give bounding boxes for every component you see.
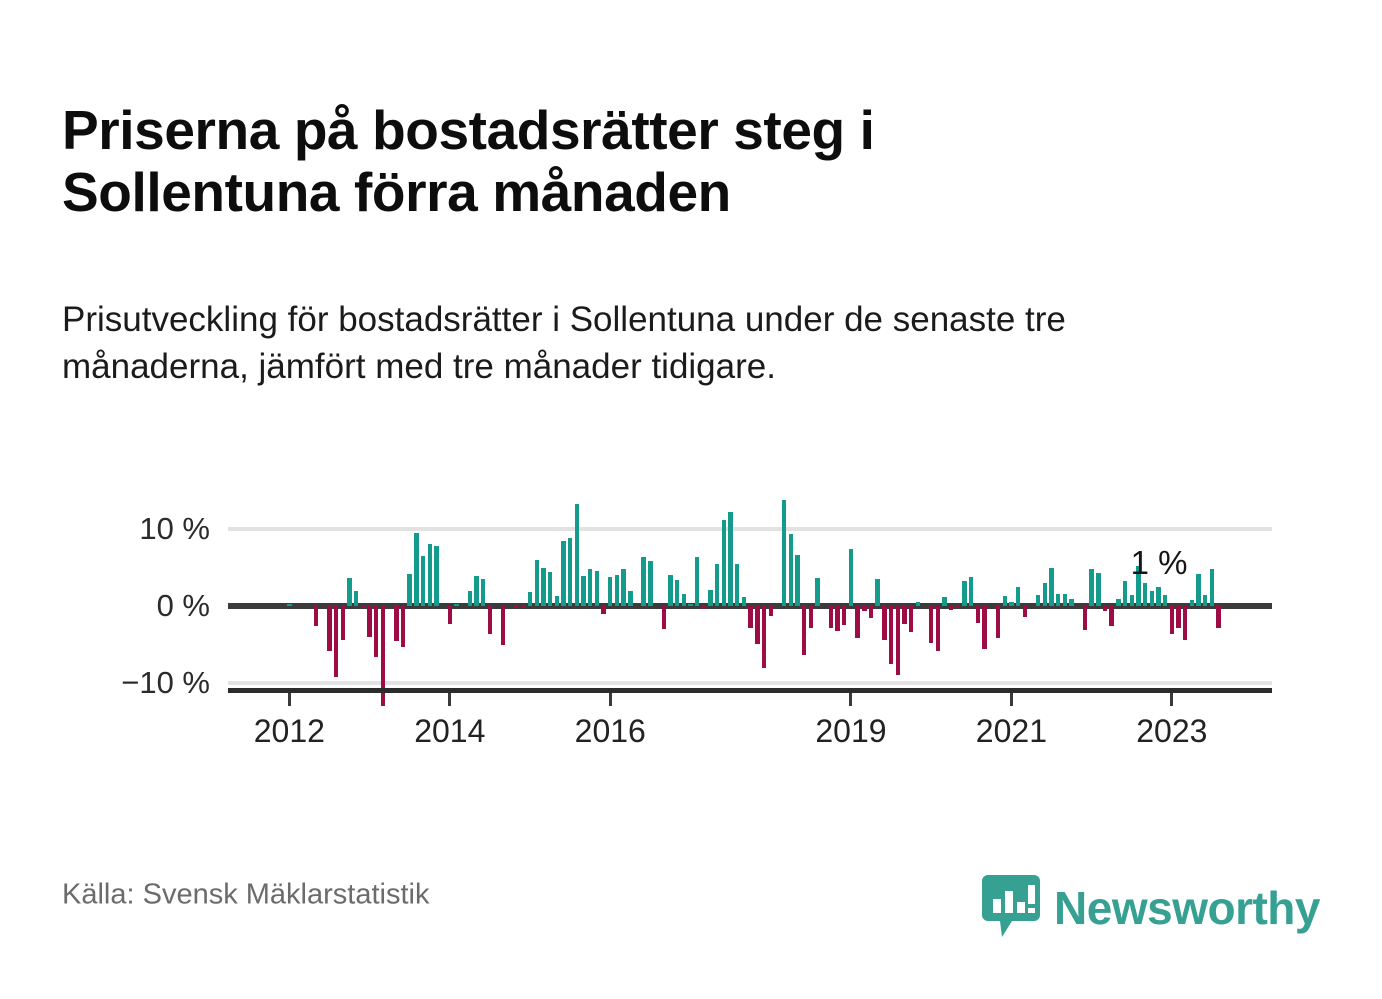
- chart-bar: [354, 591, 358, 606]
- chart-bar: [561, 541, 565, 606]
- chart-bar: [795, 555, 799, 606]
- x-axis-tick: [1010, 693, 1013, 706]
- chart-bar: [1023, 606, 1027, 617]
- chart-bar: [1043, 583, 1047, 606]
- chart-bar: [862, 606, 866, 611]
- chart-bar: [428, 544, 432, 606]
- chart-bar: [662, 606, 666, 629]
- chart-bar: [829, 606, 833, 628]
- x-axis-tick-label: 2021: [976, 713, 1047, 750]
- chart-bar: [782, 500, 786, 606]
- chart-bar: [581, 576, 585, 606]
- chart-bar: [401, 606, 405, 647]
- chart-bar: [575, 504, 579, 606]
- chart-bar: [742, 597, 746, 606]
- chart-bar: [708, 590, 712, 606]
- chart-bar: [1123, 581, 1127, 606]
- chart-bar: [695, 557, 699, 606]
- x-axis-tick-label: 2012: [254, 713, 325, 750]
- chart-bar: [702, 606, 706, 609]
- chart-bar: [889, 606, 893, 664]
- chart-bar: [748, 606, 752, 628]
- chart-bar: [648, 561, 652, 606]
- x-axis-tick-label: 2023: [1136, 713, 1207, 750]
- chart-bar: [929, 606, 933, 643]
- infographic-page: Priserna på bostadsrätter steg i Sollent…: [0, 0, 1382, 999]
- chart-bar: [1190, 600, 1194, 606]
- page-subtitle: Prisutveckling för bostadsrätter i Solle…: [62, 297, 1242, 390]
- chart-bar: [1083, 606, 1087, 630]
- chart-bar: [608, 577, 612, 606]
- chart-bar: [1143, 583, 1147, 606]
- chart-bar: [407, 574, 411, 606]
- x-axis-tick: [1170, 693, 1173, 706]
- chart-bar: [488, 606, 492, 634]
- chart-bar: [875, 579, 879, 606]
- chart-bar: [722, 520, 726, 606]
- chart-bar: [501, 606, 505, 645]
- chart-bar: [327, 606, 331, 651]
- chart-bar: [715, 564, 719, 606]
- chart-bar: [628, 591, 632, 606]
- chart-bar: [682, 594, 686, 606]
- chart-bar: [668, 575, 672, 606]
- chart-bar: [942, 597, 946, 606]
- chart-bar: [367, 606, 371, 637]
- chart-bar: [835, 606, 839, 631]
- chart-bar: [541, 568, 545, 607]
- chart-bar: [882, 606, 886, 640]
- chart-bar: [896, 606, 900, 675]
- x-axis-tick: [288, 693, 291, 706]
- bar-chart: 10 %0 %−10 % 201220142016201920212023 1 …: [0, 470, 1382, 770]
- chart-bar: [421, 556, 425, 606]
- chart-bar: [969, 577, 973, 606]
- chart-bar: [809, 606, 813, 628]
- chart-bar: [815, 578, 819, 606]
- x-axis-tick-label: 2019: [815, 713, 886, 750]
- page-title: Priserna på bostadsrätter steg i Sollent…: [62, 99, 1182, 223]
- chart-bar: [1183, 606, 1187, 640]
- x-axis-tick-label: 2014: [414, 713, 485, 750]
- chart-bar: [1089, 569, 1093, 606]
- chart-bar: [347, 578, 351, 606]
- chart-bar: [1116, 599, 1120, 606]
- chart-bar: [474, 576, 478, 606]
- newsworthy-wordmark: Newsworthy: [1054, 885, 1320, 931]
- chart-bar: [1150, 591, 1154, 606]
- chart-bar: [1096, 573, 1100, 606]
- chart-bar: [641, 557, 645, 606]
- chart-bar: [962, 581, 966, 606]
- chart-bar: [1056, 594, 1060, 606]
- chart-bar: [287, 604, 291, 606]
- chart-bar: [1163, 595, 1167, 606]
- chart-bar: [374, 606, 378, 657]
- chart-bar: [1176, 606, 1180, 628]
- chart-bar: [1210, 569, 1214, 606]
- latest-value-annotation: 1 %: [1131, 544, 1188, 582]
- chart-bar: [936, 606, 940, 651]
- chart-bar: [521, 606, 525, 608]
- chart-bar: [514, 606, 518, 608]
- chart-bar: [916, 602, 920, 606]
- chart-bar: [902, 606, 906, 624]
- chart-bar: [314, 606, 318, 626]
- chart-bar: [1203, 595, 1207, 606]
- chart-bar: [982, 606, 986, 649]
- chart-bar: [675, 580, 679, 606]
- chart-bar: [535, 560, 539, 606]
- chart-bar: [334, 606, 338, 677]
- x-axis-tick: [609, 693, 612, 706]
- chart-bar: [909, 606, 913, 632]
- chart-bar: [448, 606, 452, 624]
- chart-bar: [454, 604, 458, 606]
- chart-bar: [1130, 595, 1134, 606]
- chart-bar: [621, 569, 625, 606]
- chart-bar: [468, 591, 472, 606]
- x-axis-line: [228, 688, 1272, 693]
- chart-bar: [595, 571, 599, 606]
- chart-bar: [755, 606, 759, 644]
- chart-bar: [1063, 594, 1067, 606]
- chart-bar: [728, 512, 732, 606]
- chart-bar: [842, 606, 846, 625]
- x-axis-tick: [448, 693, 451, 706]
- chart-bar: [1003, 596, 1007, 606]
- chart-bar: [855, 606, 859, 638]
- chart-bar: [341, 606, 345, 640]
- chart-bar: [1069, 599, 1073, 606]
- x-axis-tick: [849, 693, 852, 706]
- x-axis-tick-label: 2016: [575, 713, 646, 750]
- chart-bar: [394, 606, 398, 641]
- chart-bar: [1109, 606, 1113, 626]
- chart-bar: [588, 569, 592, 606]
- chart-bar: [769, 606, 773, 616]
- chart-bar: [1049, 568, 1053, 607]
- chart-bar: [548, 572, 552, 606]
- chart-bar: [601, 606, 605, 614]
- chart-bar: [735, 564, 739, 606]
- chart-bar: [956, 606, 960, 608]
- chart-bar: [1009, 602, 1013, 606]
- chart-bar: [1103, 606, 1107, 611]
- chart-bar: [869, 606, 873, 618]
- bar-chart-speech-bubble-icon: [982, 875, 1040, 942]
- chart-bar: [1170, 606, 1174, 634]
- chart-bar: [849, 549, 853, 606]
- chart-bar: [762, 606, 766, 668]
- chart-bar: [568, 538, 572, 606]
- chart-bar: [555, 596, 559, 606]
- chart-bar: [949, 606, 953, 610]
- chart-bar: [615, 575, 619, 606]
- source-note: Källa: Svensk Mäklarstatistik: [62, 879, 429, 912]
- chart-bar: [434, 546, 438, 606]
- chart-bar: [414, 533, 418, 606]
- chart-bar: [976, 606, 980, 623]
- chart-bar: [528, 592, 532, 606]
- chart-bar: [802, 606, 806, 655]
- chart-bar: [1196, 574, 1200, 606]
- chart-bar: [789, 534, 793, 606]
- chart-bar: [361, 606, 365, 608]
- chart-bar: [1216, 606, 1220, 628]
- chart-bar: [1156, 587, 1160, 606]
- chart-bar: [996, 606, 1000, 638]
- chart-bar: [688, 604, 692, 606]
- chart-bar: [1016, 587, 1020, 606]
- chart-bar: [1036, 595, 1040, 606]
- newsworthy-logo: Newsworthy: [982, 878, 1320, 938]
- chart-bar: [481, 579, 485, 606]
